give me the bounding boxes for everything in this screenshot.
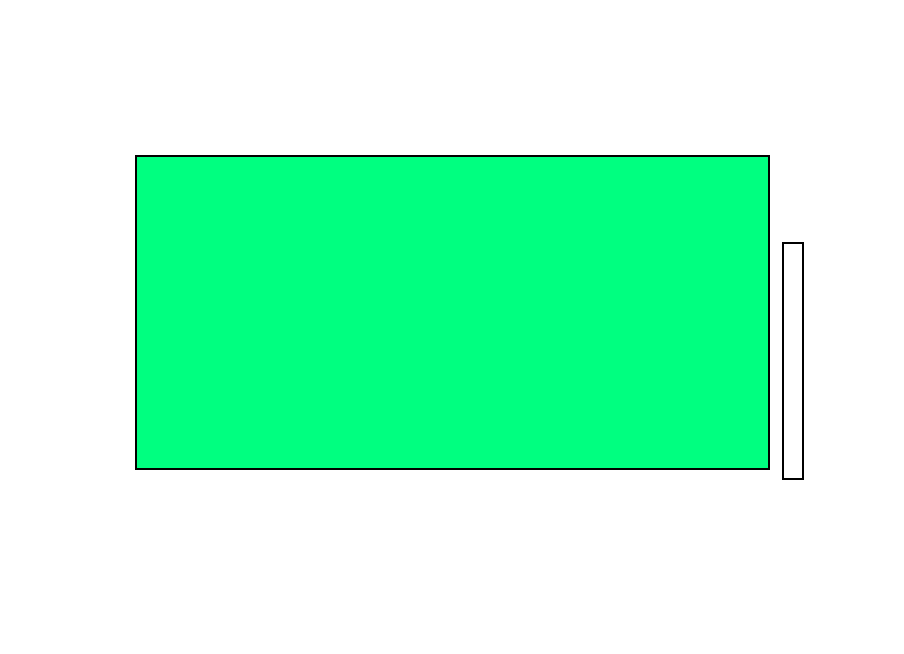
colorbar-body <box>782 242 804 480</box>
colorbar[interactable] <box>779 202 807 520</box>
colorbar-under-arrow <box>782 202 804 244</box>
contour-field <box>137 157 768 468</box>
contour-plot-area[interactable] <box>135 155 770 470</box>
